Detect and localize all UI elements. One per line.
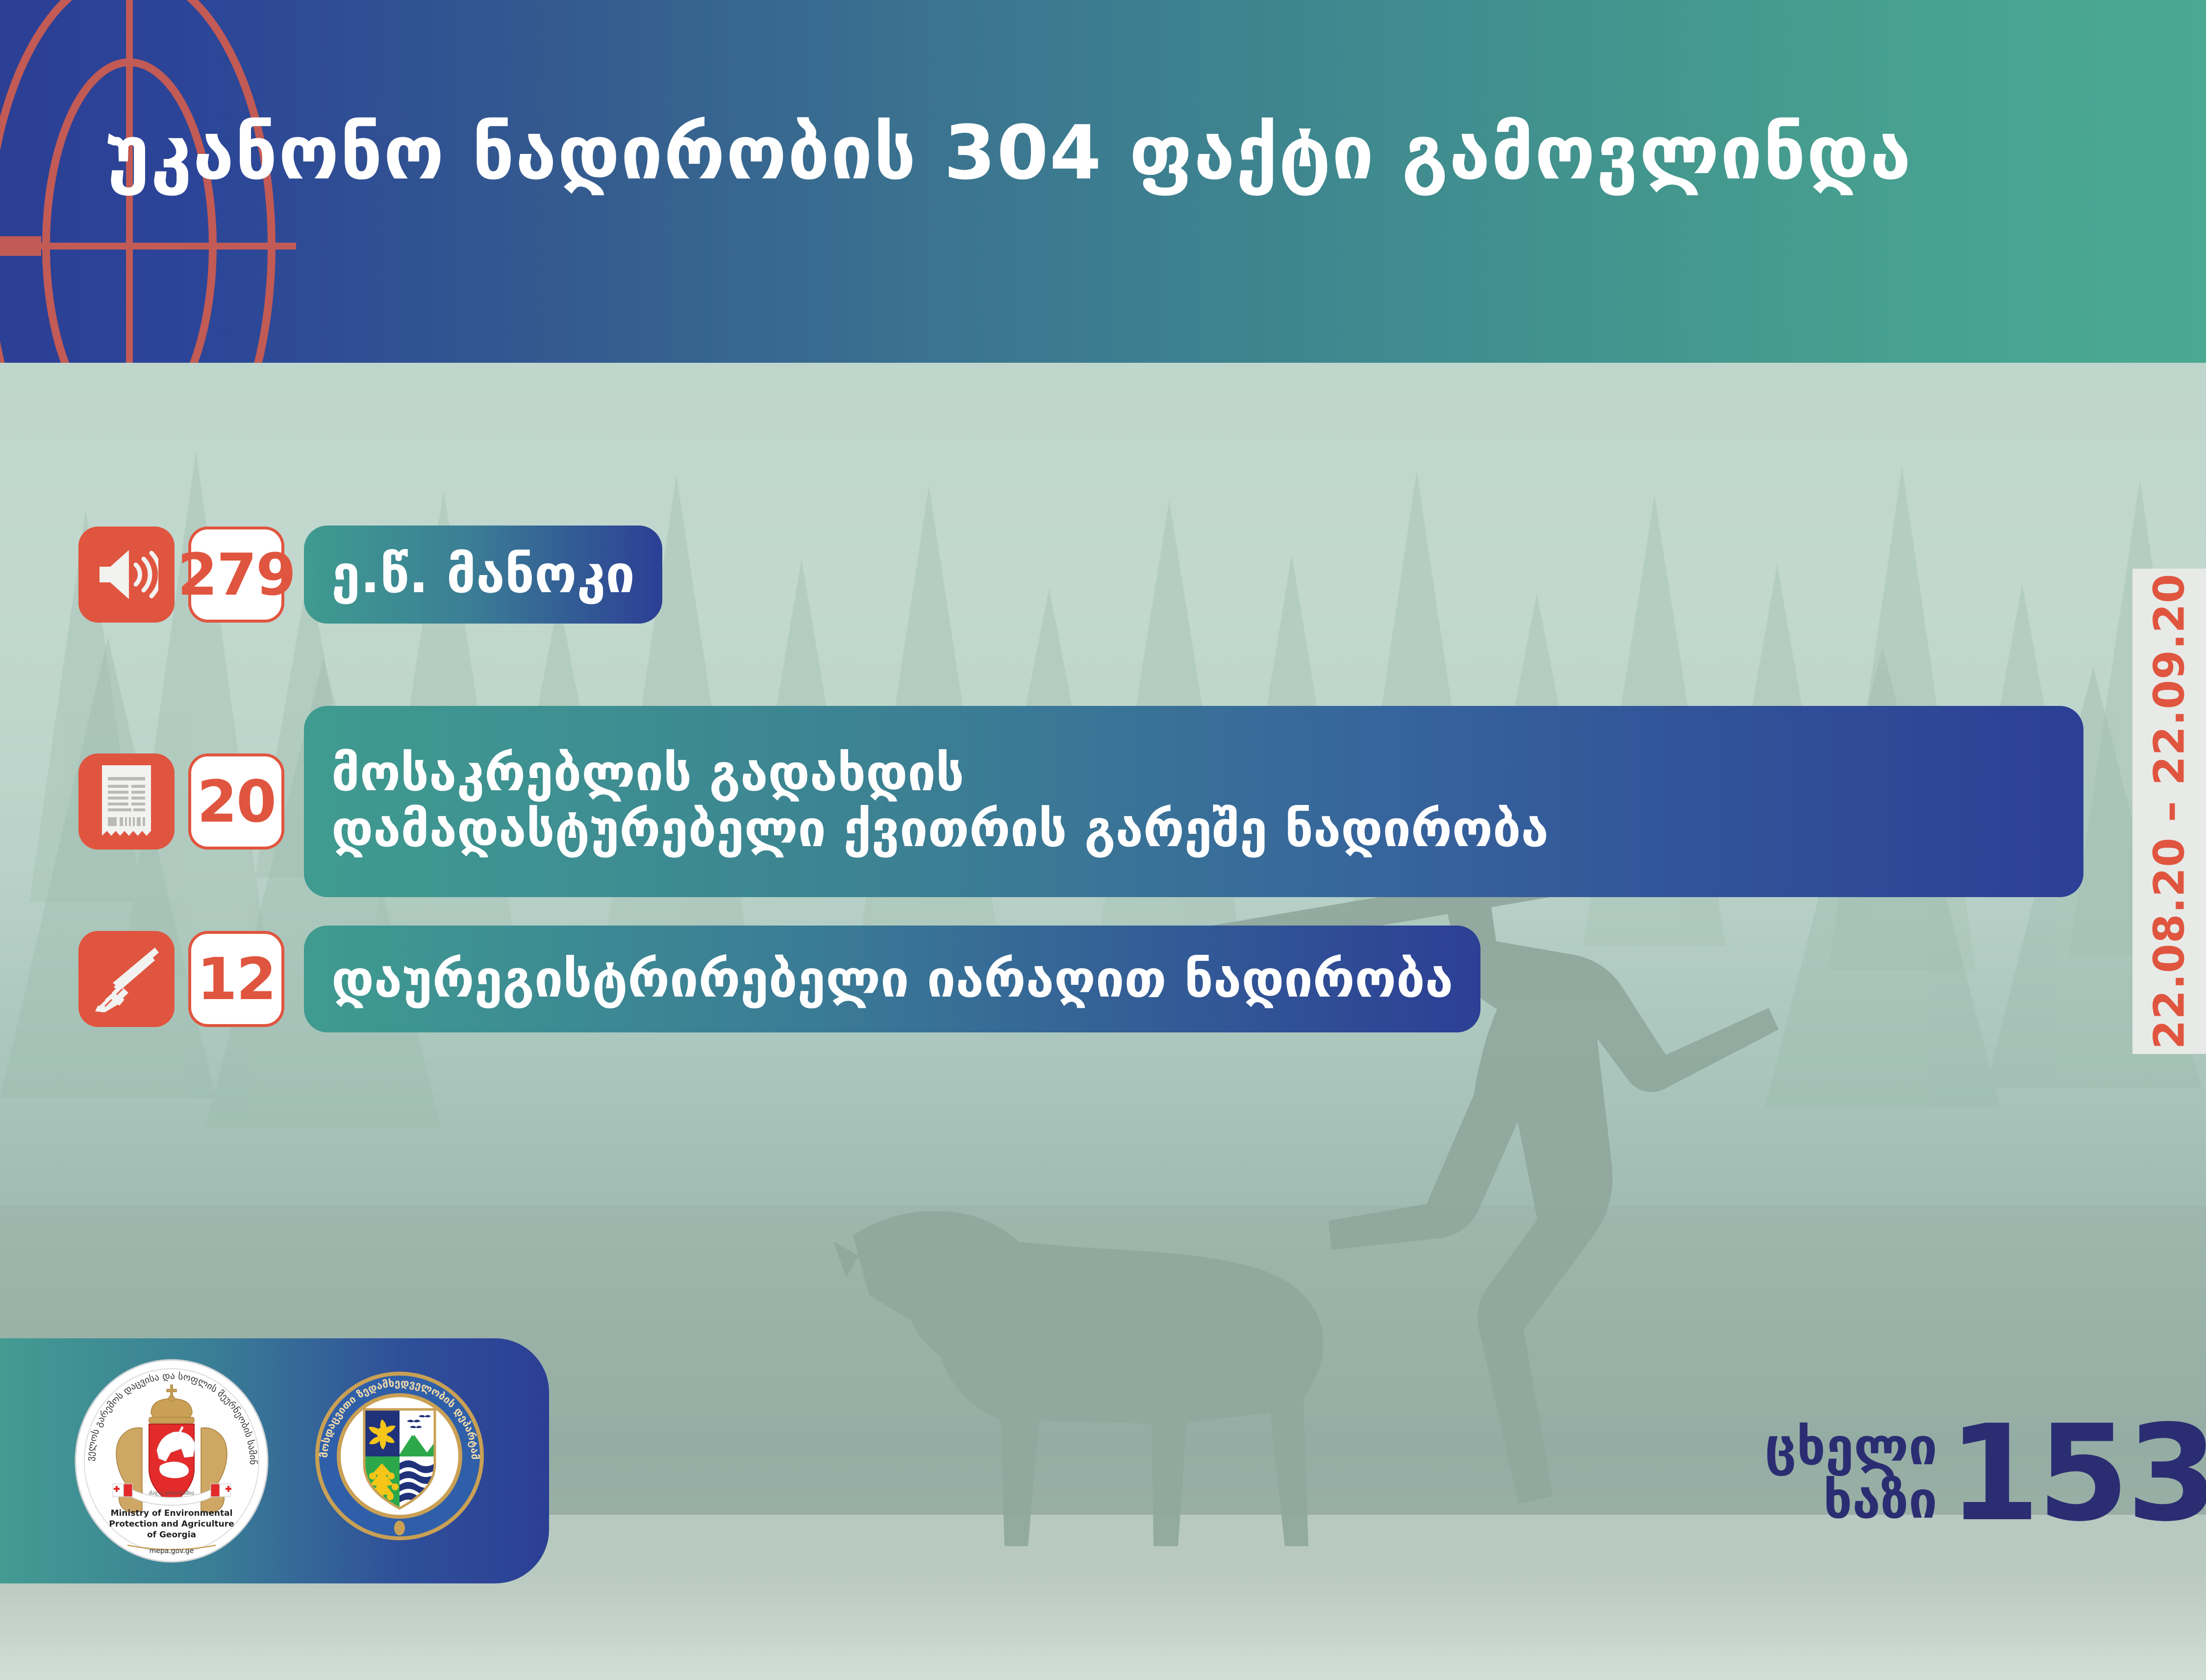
date-range-strip: 22.08.20 – 22.09.20 (2132, 569, 2206, 1054)
hotline-block: ცხელი ხაზი 153 (1765, 1419, 2206, 1528)
receipt-icon-tile (78, 753, 175, 850)
speaker-icon (95, 545, 158, 604)
count-badge: 12 (188, 931, 284, 1027)
motto-text: ძალა ერთობაშია (149, 1490, 195, 1496)
count-badge: 20 (188, 753, 284, 850)
stat-row-manoki: 279 ე.წ. მანოკი (78, 526, 662, 624)
stat-label-pill: დაურეგისტრირებელი იარაღით ნადირობა (304, 926, 1480, 1032)
receipt-icon (99, 765, 154, 838)
ministry-seal: საქართველოს გარემოს დაცვისა და სოფლის მე… (74, 1358, 270, 1564)
ministry-website: mepa.gov.ge (150, 1547, 194, 1555)
environmental-supervision-seal: გარემოსდაცვითი ზედამხედველობის დეპარტამე… (314, 1370, 485, 1542)
rifle-icon-tile (78, 931, 175, 1027)
count-value: 20 (197, 773, 276, 830)
count-value: 279 (177, 546, 295, 603)
ministry-english-line2: Protection and Agriculture (109, 1519, 234, 1529)
hotline-word-line1: ცხელი (1765, 1420, 1937, 1474)
count-value: 12 (197, 950, 276, 1008)
hotline-word-line2: ხაზი (1765, 1474, 1937, 1527)
stat-label-pill: მოსაკრებლის გადახდის დამადასტურებელი ქვი… (304, 706, 2083, 897)
stat-label-pill: ე.წ. მანოკი (304, 526, 662, 624)
count-badge: 279 (188, 527, 284, 623)
rifle-icon (92, 945, 161, 1013)
infographic-poster: უკანონო ნადირობის 304 ფაქტი გამოვლინდა (0, 0, 2206, 1680)
stat-row-rifle: 12 დაურეგისტრირებელი იარაღით ნადირობა (78, 926, 1480, 1032)
hotline-words: ცხელი ხაზი (1765, 1420, 1937, 1527)
stat-row-receipt: 20 მოსაკრებლის გადახდის დამადასტურებელი … (78, 706, 2083, 897)
ministry-english-line1: Ministry of Environmental (111, 1508, 233, 1518)
speaker-icon-tile (78, 527, 175, 623)
date-range-label: 22.08.20 – 22.09.20 (2145, 574, 2194, 1050)
hotline-number: 153 (1948, 1419, 2206, 1528)
ministry-english-line3: of Georgia (147, 1530, 196, 1540)
